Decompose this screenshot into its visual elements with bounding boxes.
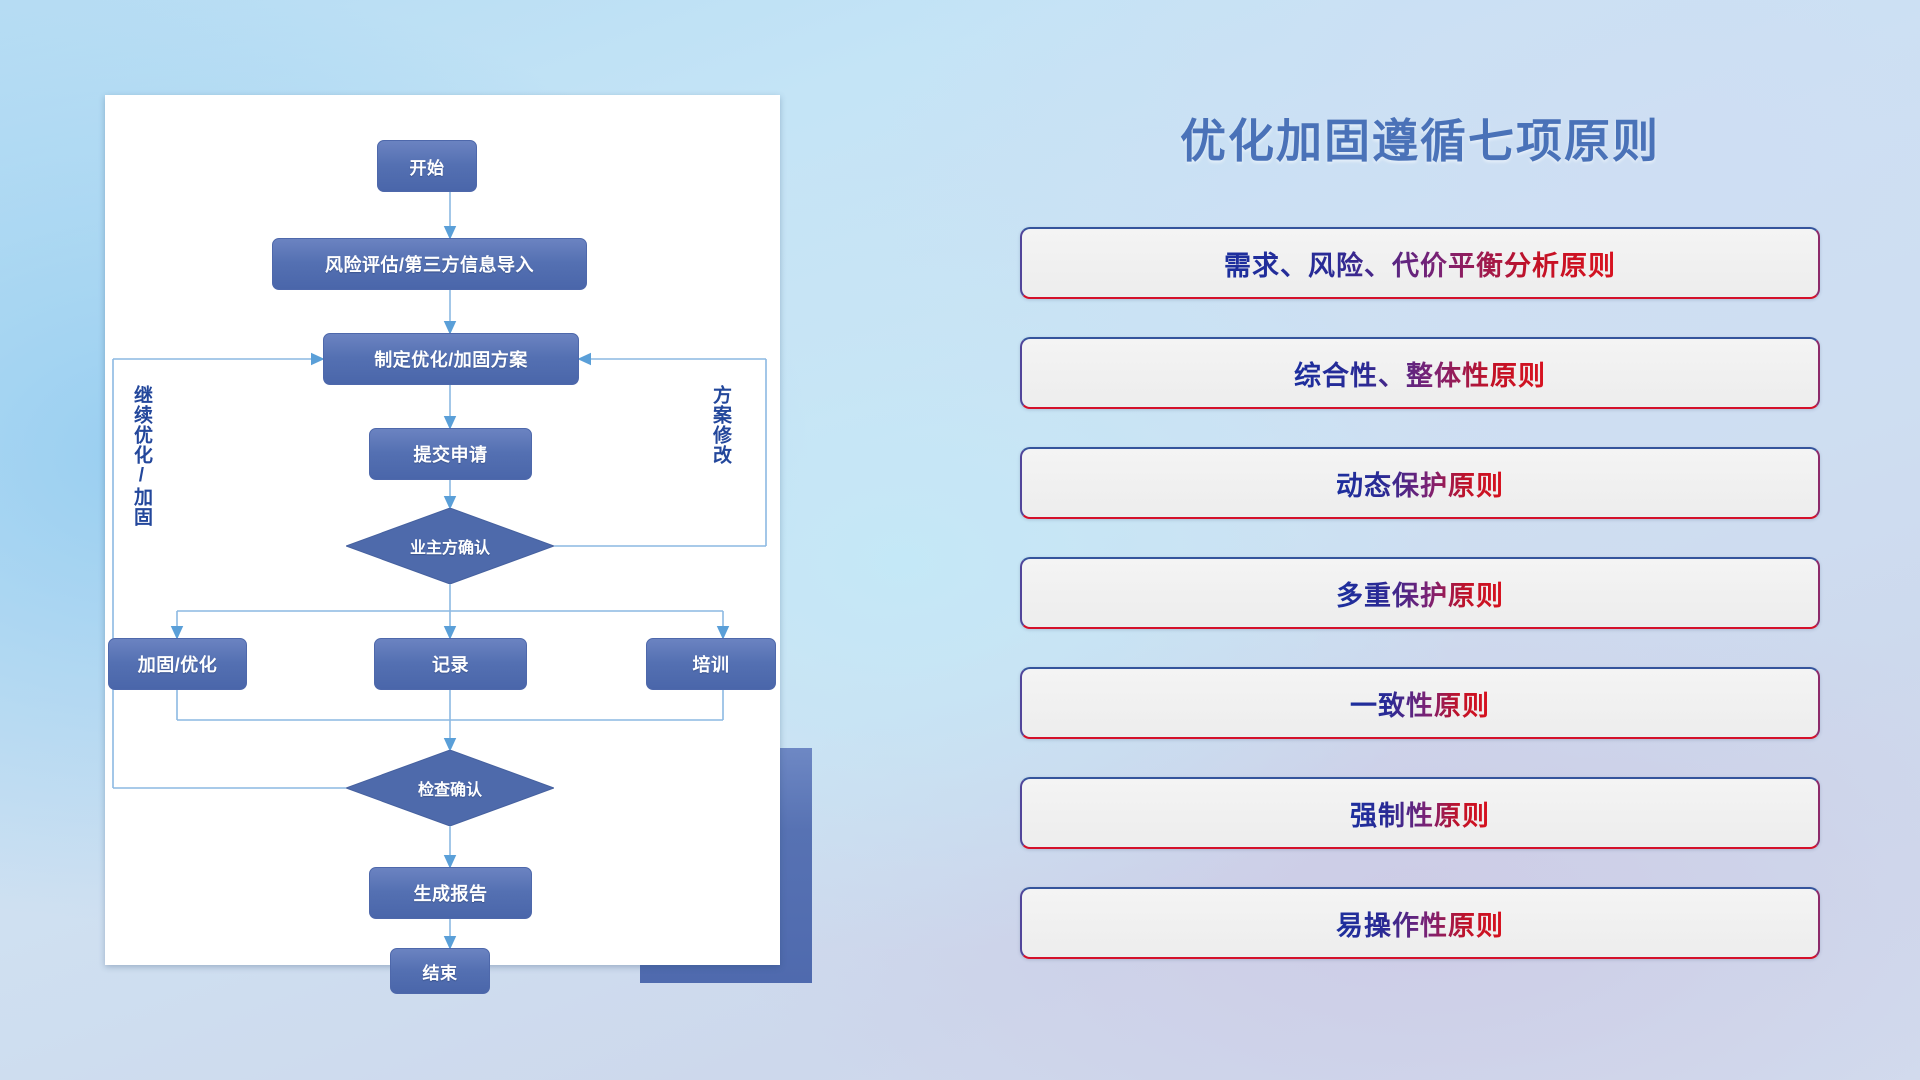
flow-node-training-label: 培训 <box>693 651 730 677</box>
flow-node-start[interactable]: 开始 <box>377 140 477 192</box>
flowchart: 开始 风险评估/第三方信息导入 制定优化/加固方案 提交申请 业主方确认 加固/… <box>105 95 780 965</box>
principle-item-label: 易操作性原则 <box>1336 904 1504 943</box>
principles-panel: 优化加固遵循七项原则 需求、风险、代价平衡分析原则 综合性、整体性原则 动态保护… <box>1020 0 1900 1080</box>
flow-node-record-label: 记录 <box>432 651 469 677</box>
flow-node-check-confirm[interactable]: 检查确认 <box>346 750 554 826</box>
principle-item-label: 动态保护原则 <box>1336 464 1504 503</box>
flow-node-submit[interactable]: 提交申请 <box>369 428 532 480</box>
flow-node-risk-assessment[interactable]: 风险评估/第三方信息导入 <box>272 238 587 290</box>
flow-node-owner-confirm[interactable]: 业主方确认 <box>346 508 554 584</box>
flow-node-generate-report[interactable]: 生成报告 <box>369 867 532 919</box>
principle-item[interactable]: 一致性原则 <box>1020 667 1820 739</box>
principle-item[interactable]: 需求、风险、代价平衡分析原则 <box>1020 227 1820 299</box>
flow-node-training[interactable]: 培训 <box>646 638 776 690</box>
principles-title: 优化加固遵循七项原则 <box>1020 105 1820 171</box>
principle-item-label: 一致性原则 <box>1350 684 1490 723</box>
flow-node-end-label: 结束 <box>423 959 458 984</box>
flow-edge-label-left-loop: 继续优化/加固 <box>131 385 151 527</box>
flow-node-plan[interactable]: 制定优化/加固方案 <box>323 333 579 385</box>
flow-node-plan-label: 制定优化/加固方案 <box>374 346 528 372</box>
principles-list: 需求、风险、代价平衡分析原则 综合性、整体性原则 动态保护原则 多重保护原则 一… <box>1020 227 1820 997</box>
flow-node-end[interactable]: 结束 <box>390 948 490 994</box>
principle-item[interactable]: 强制性原则 <box>1020 777 1820 849</box>
principle-item[interactable]: 动态保护原则 <box>1020 447 1820 519</box>
flowchart-card: 开始 风险评估/第三方信息导入 制定优化/加固方案 提交申请 业主方确认 加固/… <box>105 95 780 965</box>
flow-edge-label-right-loop: 方案修改 <box>710 385 730 465</box>
principle-item[interactable]: 多重保护原则 <box>1020 557 1820 629</box>
principle-item-label: 综合性、整体性原则 <box>1294 354 1546 393</box>
flow-node-reinforce-label: 加固/优化 <box>138 651 218 677</box>
principle-item[interactable]: 易操作性原则 <box>1020 887 1820 959</box>
flow-node-generate-report-label: 生成报告 <box>414 880 488 906</box>
principle-item-label: 强制性原则 <box>1350 794 1490 833</box>
principle-item-label: 需求、风险、代价平衡分析原则 <box>1224 244 1616 283</box>
flow-node-risk-assessment-label: 风险评估/第三方信息导入 <box>325 251 534 277</box>
flow-node-reinforce[interactable]: 加固/优化 <box>108 638 247 690</box>
principle-item[interactable]: 综合性、整体性原则 <box>1020 337 1820 409</box>
flow-node-record[interactable]: 记录 <box>374 638 527 690</box>
principle-item-label: 多重保护原则 <box>1336 574 1504 613</box>
flow-node-start-label: 开始 <box>410 154 445 179</box>
flow-node-submit-label: 提交申请 <box>414 441 488 467</box>
